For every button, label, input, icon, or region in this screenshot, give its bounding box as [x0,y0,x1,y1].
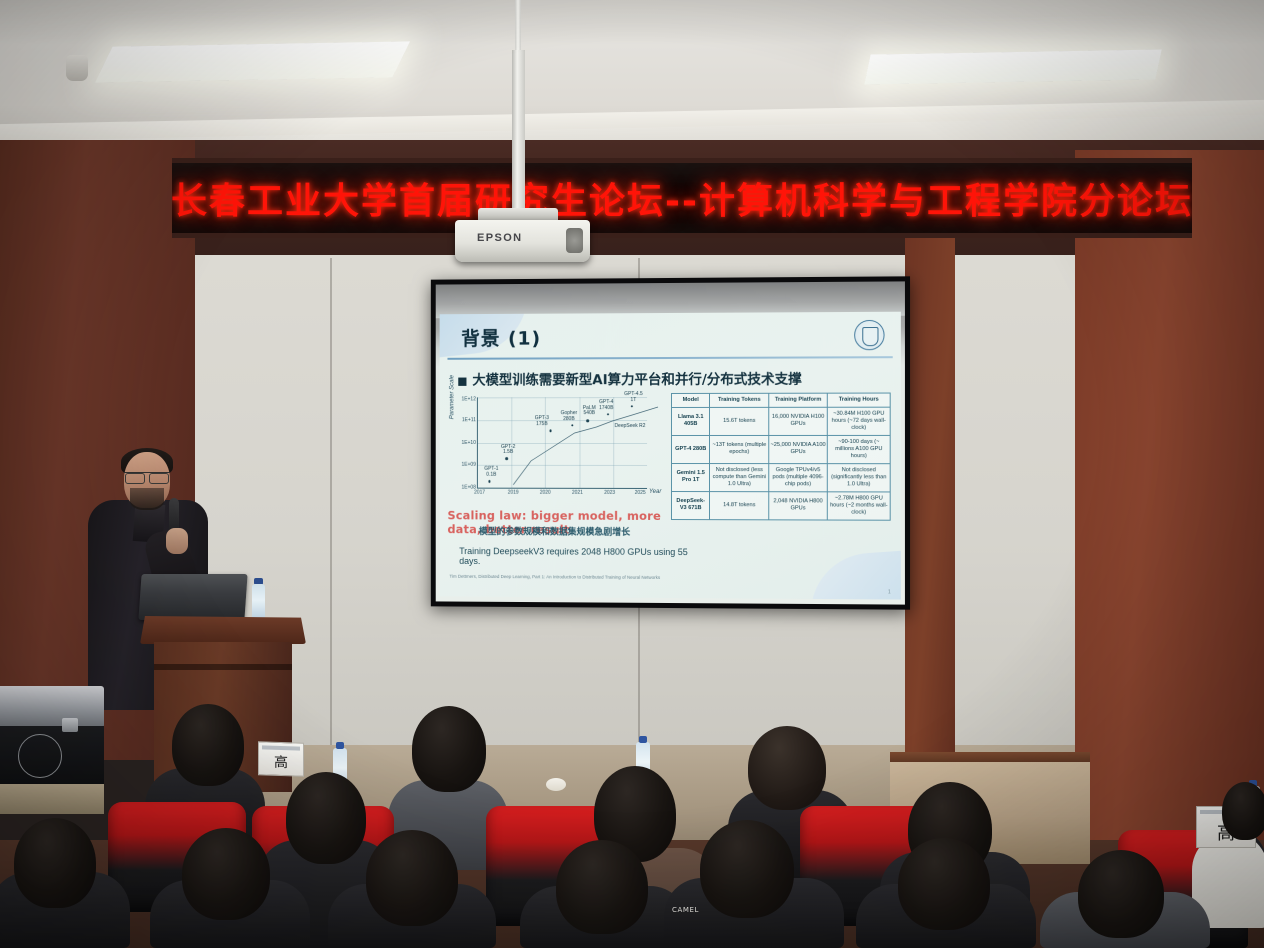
chart-plot-area: 1E+08 1E+09 1E+10 1E+11 1E+12 2017 2019 … [477,397,647,489]
flight-case-logo-icon [18,734,62,778]
water-bottle [252,584,265,620]
audience-head [1078,850,1164,938]
lecture-hall-photo: 长春工业大学首届研究生论坛--计算机科学与工程学院分论坛 EPSON 背景 (1… [0,0,1264,948]
chart-point-label: Gopher280B [561,411,578,422]
audience-head [14,818,96,908]
projector-lens-icon [566,228,583,253]
cell-platform: 16,000 NVIDIA H100 GPUs [769,407,828,435]
audience-head [700,820,794,918]
cell-model: Llama 3.1 405B [671,407,709,435]
cell-platform: ~25,000 NVIDIA A100 GPUs [769,435,828,463]
cell-platform: Google TPUv4/v5 pods (multiple 4096-chip… [769,463,828,491]
screen-surface: 背景 (1) ■大模型训练需要新型AI算力平台和并行/分布式技术支撑 Param… [436,281,905,604]
podium-top [140,616,306,644]
ceiling-light-left [95,41,410,82]
bullet-dot-icon: ■ [457,375,467,388]
chart-point-label: PaLM540B [583,406,596,417]
slide-bullet-text: 大模型训练需要新型AI算力平台和并行/分布式技术支撑 [472,372,801,389]
scaling-law-chinese: 模型的参数规模和数据集规模急剧增长 [479,524,697,538]
audience-head [412,706,486,792]
wall-seam [330,258,332,758]
university-seal-icon [854,320,884,350]
projector: EPSON [455,220,590,262]
chart-y-tick: 1E+09 [462,462,476,468]
chart-point-label: GPT-4.51T [624,392,643,404]
chart-x-tick: 2019 [508,490,519,496]
chart-x-tick: 2020 [540,490,551,496]
laptop [138,574,247,620]
front-desk-edge [890,752,1090,762]
chart-point-label: GPT-10.1B [484,467,498,478]
hair-accessory [546,778,566,791]
audience-head [1222,782,1264,840]
presentation-slide: 背景 (1) ■大模型训练需要新型AI算力平台和并行/分布式技术支撑 Param… [440,312,901,600]
table-header-row: Model Training Tokens Training Platform … [671,393,890,407]
cell-hours: ~90-100 days (~ millions A100 GPU hours) [827,435,890,463]
flight-case-base [0,784,104,814]
slide-title-rule [447,356,892,360]
slide-footnote: Tim Dettmers, Distributed Deep Learning,… [449,574,777,581]
projector-mount-pole [512,50,525,220]
cell-tokens: Not disclosed (less compute than Gemini … [710,463,769,491]
slide-title: 背景 (1) [461,324,541,351]
audience-head [182,828,270,920]
audience-head [556,840,648,934]
table-row: GPT-4 280B ~13T tokens (multiple epochs)… [671,435,890,463]
cell-model: Gemini 1.5 Pro 1T [671,463,709,491]
chart-y-tick: 1E+12 [462,396,476,402]
cell-tokens: ~13T tokens (multiple epochs) [710,435,769,463]
cell-model: GPT-4 280B [671,435,709,463]
chart-point-label: GPT-41740B [599,400,613,411]
presenter-beard [130,488,164,510]
slide-bullet-point: ■大模型训练需要新型AI算力平台和并行/分布式技术支撑 [457,367,886,388]
chart-x-tick: 2025 [635,490,646,496]
table-header-model: Model [671,393,709,407]
glasses-icon [124,472,170,481]
projection-screen: 背景 (1) ■大模型训练需要新型AI算力平台和并行/分布式技术支撑 Param… [431,276,910,609]
placard-header-bar [262,745,300,750]
model-training-table: Model Training Tokens Training Platform … [671,393,891,521]
audience-head [286,772,366,864]
name-placard: 高 [258,741,304,777]
chart-y-axis-label: Parameter Scale [449,375,455,419]
cell-hours: ~2.78M H800 GPU hours (~2 months wall-cl… [827,492,890,520]
slide-page-number: 1 [888,589,891,595]
right-wood-wall [1075,150,1264,860]
table-row: Gemini 1.5 Pro 1T Not disclosed (less co… [671,463,890,491]
flight-case-latch-icon [62,718,78,732]
audience-head [748,726,826,810]
chart-x-tick: 2017 [474,490,485,496]
training-note-text: Training DeepseekV3 requires 2048 H800 G… [459,546,697,567]
ceiling-light-right [864,49,1161,84]
equipment-flight-case [0,686,104,814]
led-banner: 长春工业大学首届研究生论坛--计算机科学与工程学院分论坛 [172,158,1192,238]
table-header-platform: Training Platform [769,393,828,407]
flight-case-lid [0,686,104,728]
chart-point-label: DeepSeek R2 [615,424,646,430]
chart-x-tick: 2023 [604,490,615,496]
chart-point-label: GPT-21.5B [501,445,515,456]
cell-tokens: 15.6T tokens [710,407,769,435]
chart-x-axis-label: Year [649,489,661,495]
cell-hours: Not disclosed (significantly less than 1… [827,464,890,492]
smoke-detector-icon [66,55,88,81]
presenter-hand [166,528,188,554]
chart-y-tick: 1E+11 [462,417,476,423]
projector-brand-label: EPSON [477,232,523,244]
table-row: DeepSeek-V3 671B 14.8T tokens 2,048 NVID… [671,491,890,520]
chart-y-tick: 1E+10 [462,440,476,446]
audience-head [898,838,990,930]
chart-point-label: GPT-3175B [535,417,549,428]
placard-name-text: 高 [259,751,303,773]
cell-platform: 2,048 NVIDIA H800 GPUs [769,492,828,520]
chart-x-tick: 2021 [572,490,583,496]
led-banner-text: 长春工业大学首届研究生论坛--计算机科学与工程学院分论坛 [172,172,1192,224]
camel-brand-logo: CAMEL [672,906,699,914]
table-header-hours: Training Hours [827,393,890,407]
parameter-scale-chart: Parameter Scale 1E+08 1E+09 1E+10 1E [453,395,659,507]
audience-head [366,830,458,926]
audience-head [172,704,244,786]
podium-band [154,664,292,670]
slide-corner-decoration-2 [807,549,901,599]
cell-hours: ~30.84M H100 GPU hours (~72 days wall-cl… [827,407,890,435]
cell-tokens: 14.8T tokens [710,491,769,519]
table-header-tokens: Training Tokens [710,393,769,407]
table-row: Llama 3.1 405B 15.6T tokens 16,000 NVIDI… [671,407,890,435]
